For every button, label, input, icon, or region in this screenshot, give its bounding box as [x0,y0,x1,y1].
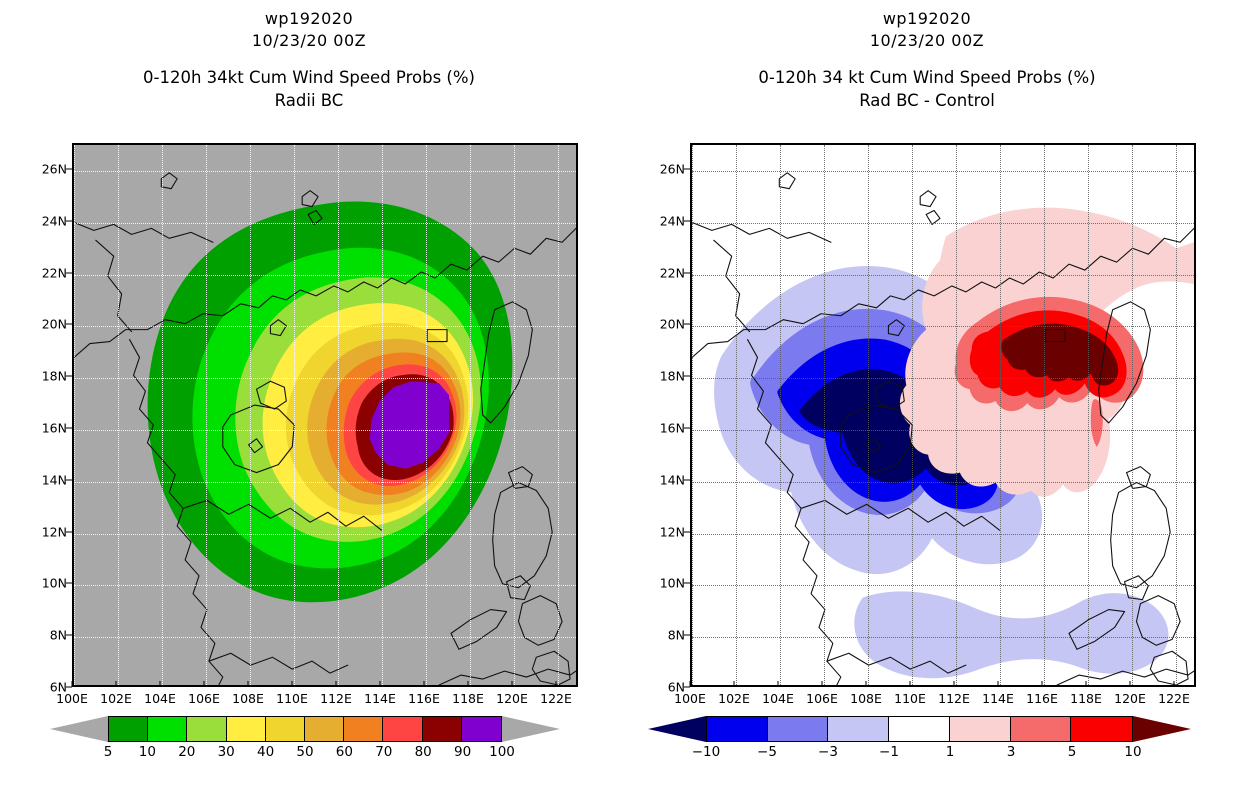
x-tick-label: 110E [276,691,308,706]
left-subtitle: Radii BC [0,90,618,112]
colorbar-tick-label: 40 [257,744,274,760]
coast-islet-4 [270,320,286,336]
colorbar-tick-label: 50 [296,744,313,760]
x-tick-mark [690,681,691,687]
left-datetime: 10/23/20 00Z [0,30,618,52]
colorbar-tick-label: 1 [946,744,955,760]
y-tick-label: 24N [42,213,67,228]
y-tick-label: 10N [660,576,685,591]
coast-guangxi [748,340,780,459]
x-tick-mark [866,681,867,687]
coast-islet-3 [926,211,940,225]
x-tick-mark [998,681,999,687]
colorbar-tick-label: 60 [336,744,353,760]
panel-radii-bc: wp192020 10/23/20 00Z 0-120h 34kt Cum Wi… [0,0,618,800]
right-panel-titles: wp192020 10/23/20 00Z 0-120h 34 kt Cum W… [618,8,1236,112]
x-tick-label: 116E [408,691,440,706]
x-tick-label: 112E [938,691,970,706]
colorbar-segment [266,717,305,741]
y-tick-label: 8N [50,628,67,643]
y-tick-label: 22N [42,265,67,280]
x-tick-label: 118E [452,691,484,706]
colorbar-tick-label: 3 [1007,744,1016,760]
colorbar-segment [227,717,266,741]
coast-philippines-2 [532,651,570,685]
left-panel-titles: wp192020 10/23/20 00Z 0-120h 34kt Cum Wi… [0,8,618,112]
x-tick-mark [292,681,293,687]
right-colorbar: −10−5−3−113510 [648,716,1193,742]
coast-vietnam-south [209,653,348,673]
coast-hongkong-box [427,330,447,342]
coast-china-river [714,240,750,331]
right-datetime: 10/23/20 00Z [618,30,1236,52]
x-tick-label: 112E [320,691,352,706]
left-colorbar-over-arrow [502,716,560,742]
colorbar-segment [187,717,226,741]
x-tick-mark [1130,681,1131,687]
x-tick-mark [380,681,381,687]
right-coastlines [692,145,1194,685]
coast-islet-1 [161,173,177,189]
x-tick-mark [954,681,955,687]
y-tick-label: 14N [660,472,685,487]
coast-philippines-1 [1136,596,1180,646]
x-tick-mark [116,681,117,687]
coast-islet-5 [867,439,881,453]
x-tick-mark [160,681,161,687]
y-tick-label: 10N [42,576,67,591]
right-title: 0-120h 34 kt Cum Wind Speed Probs (%) [618,66,1236,90]
coast-leizhou [875,381,905,409]
y-tick-label: 12N [660,524,685,539]
y-tick-label: 12N [42,524,67,539]
coast-luzon-north [1127,467,1151,489]
y-tick-label: 24N [660,213,685,228]
colorbar-segment [148,717,187,741]
colorbar-tick-label: 5 [1068,744,1077,760]
coast-islet-5 [249,439,263,453]
x-tick-mark [822,681,823,687]
x-tick-label: 104E [144,691,176,706]
x-tick-mark [778,681,779,687]
coast-vietnam-south [827,653,966,673]
x-tick-mark [248,681,249,687]
colorbar-tick-label: 10 [139,744,156,760]
x-tick-mark [1042,681,1043,687]
coast-hainan-island [223,405,294,473]
x-tick-mark [1174,681,1175,687]
coast-philippines-1 [518,596,562,646]
x-tick-label: 106E [806,691,838,706]
y-tick-label: 26N [660,161,685,176]
colorbar-tick-label: 30 [218,744,235,760]
x-tick-mark [512,681,513,687]
coast-islet-1 [779,173,795,189]
colorbar-tick-label: 70 [375,744,392,760]
coast-islet-4 [888,320,904,336]
y-tick-label: 20N [42,317,67,332]
x-tick-mark [734,681,735,687]
x-tick-label: 108E [850,691,882,706]
coast-taiwan [1099,302,1151,423]
colorbar-tick-label: −3 [818,744,838,760]
left-title: 0-120h 34kt Cum Wind Speed Probs (%) [0,66,618,90]
coast-islet-2 [920,191,936,207]
coast-leizhou [257,381,287,409]
colorbar-segment [950,717,1011,741]
right-subtitle: Rad BC - Control [618,90,1236,112]
coast-luzon-north [509,467,533,489]
coast-guangxi [130,340,162,459]
x-tick-label: 120E [496,691,528,706]
coast-taiwan [481,302,533,423]
x-tick-label: 100E [56,691,88,706]
coast-luzon [493,483,553,588]
coast-vietnam-coast [183,500,381,530]
right-colorbar-body [706,716,1133,742]
colorbar-segment [1011,717,1072,741]
x-tick-label: 114E [982,691,1014,706]
x-tick-label: 114E [364,691,396,706]
left-colorbar: 5102030405060708090100 [50,716,560,742]
x-tick-label: 106E [188,691,220,706]
y-tick-label: 16N [660,420,685,435]
coast-palawan [451,610,507,650]
x-tick-mark [468,681,469,687]
left-colorbar-body [108,716,502,742]
coast-philippines-2 [1150,651,1188,685]
y-tick-label: 20N [660,317,685,332]
y-tick-label: 18N [660,369,685,384]
colorbar-segment [383,717,422,741]
y-tick-label: 14N [42,472,67,487]
colorbar-segment [423,717,462,741]
colorbar-segment [305,717,344,741]
coast-china-mainland [692,228,1194,357]
y-tick-label: 18N [42,369,67,384]
x-tick-mark [556,681,557,687]
right-map-wrap: 6N8N10N12N14N16N18N20N22N24N26N 100E102E… [690,143,1196,687]
colorbar-segment [889,717,950,741]
left-map-wrap: 6N8N10N12N14N16N18N20N22N24N26N 100E102E… [72,143,578,687]
colorbar-tick-label: 80 [415,744,432,760]
colorbar-segment [344,717,383,741]
x-tick-mark [910,681,911,687]
x-tick-label: 120E [1114,691,1146,706]
colorbar-segment [707,717,768,741]
left-coastlines [74,145,576,685]
x-tick-mark [204,681,205,687]
x-tick-label: 118E [1070,691,1102,706]
x-tick-label: 108E [232,691,264,706]
x-tick-label: 104E [762,691,794,706]
x-tick-label: 100E [674,691,706,706]
coast-islet-3 [308,211,322,225]
right-map-frame [690,143,1196,687]
colorbar-tick-label: 20 [178,744,195,760]
colorbar-tick-label: −1 [879,744,899,760]
left-colorbar-under-arrow [50,716,108,742]
colorbar-segment [462,717,501,741]
x-tick-mark [1086,681,1087,687]
coast-hainan-island [841,405,912,473]
x-tick-label: 122E [540,691,572,706]
x-tick-mark [72,681,73,687]
y-tick-label: 8N [668,628,685,643]
colorbar-tick-label: 90 [454,744,471,760]
colorbar-tick-label: −5 [757,744,777,760]
coast-hongkong-box [1045,330,1065,342]
y-tick-label: 16N [42,420,67,435]
right-colorbar-under-arrow [648,716,706,742]
right-storm-id: wp192020 [618,8,1236,30]
coast-vietnam-north [161,459,223,685]
x-tick-mark [336,681,337,687]
coast-vietnam-north [779,459,841,685]
coast-china-mainland [74,228,576,357]
coast-luzon [1111,483,1171,588]
coast-vietnam-coast [801,500,999,530]
x-tick-label: 116E [1026,691,1058,706]
coast-islet-2 [302,191,318,207]
colorbar-segment [828,717,889,741]
x-tick-mark [424,681,425,687]
x-tick-label: 102E [100,691,132,706]
x-tick-label: 122E [1158,691,1190,706]
colorbar-tick-label: 5 [104,744,113,760]
colorbar-tick-label: −10 [692,744,721,760]
left-map-frame [72,143,578,687]
colorbar-segment [768,717,829,741]
left-storm-id: wp192020 [0,8,618,30]
coast-china-inland-1 [692,222,831,242]
colorbar-tick-label: 100 [489,744,515,760]
coast-china-inland-1 [74,222,213,242]
x-tick-label: 102E [718,691,750,706]
colorbar-tick-label: 10 [1124,744,1141,760]
coast-palawan [1069,610,1125,650]
coast-china-river [96,240,132,331]
right-colorbar-over-arrow [1133,716,1191,742]
colorbar-segment [109,717,148,741]
colorbar-segment [1071,717,1132,741]
y-tick-label: 22N [660,265,685,280]
x-tick-label: 110E [894,691,926,706]
y-tick-label: 26N [42,161,67,176]
panel-rad-bc-control: wp192020 10/23/20 00Z 0-120h 34 kt Cum W… [618,0,1236,800]
